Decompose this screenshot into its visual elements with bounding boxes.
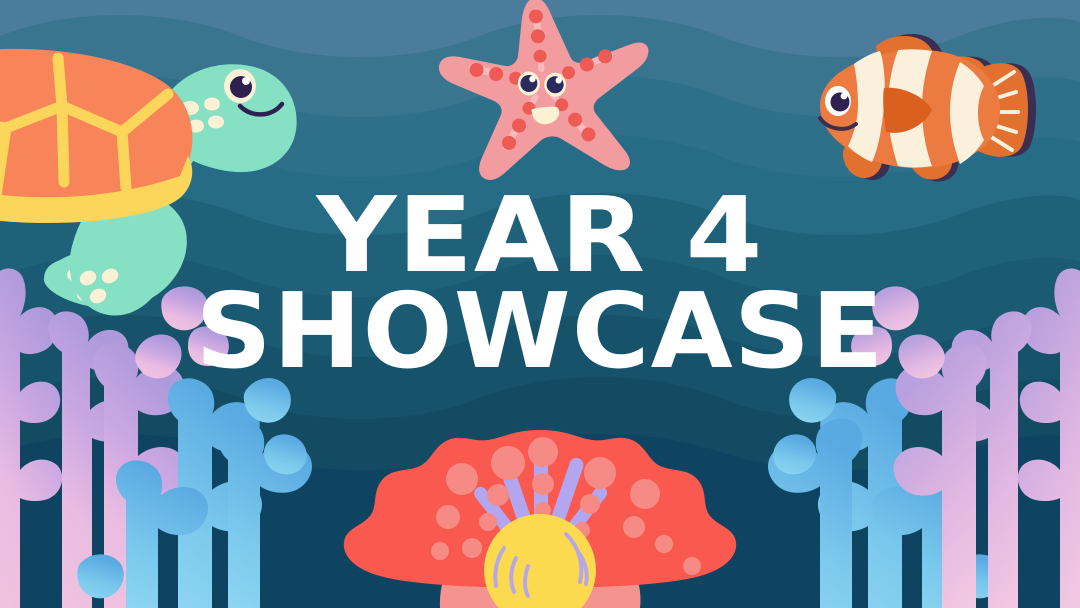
showcase-slide: YEAR 4 SHOWCASE bbox=[0, 0, 1080, 608]
clam-shell-illustration bbox=[344, 430, 736, 608]
coral-layer bbox=[0, 0, 1080, 608]
